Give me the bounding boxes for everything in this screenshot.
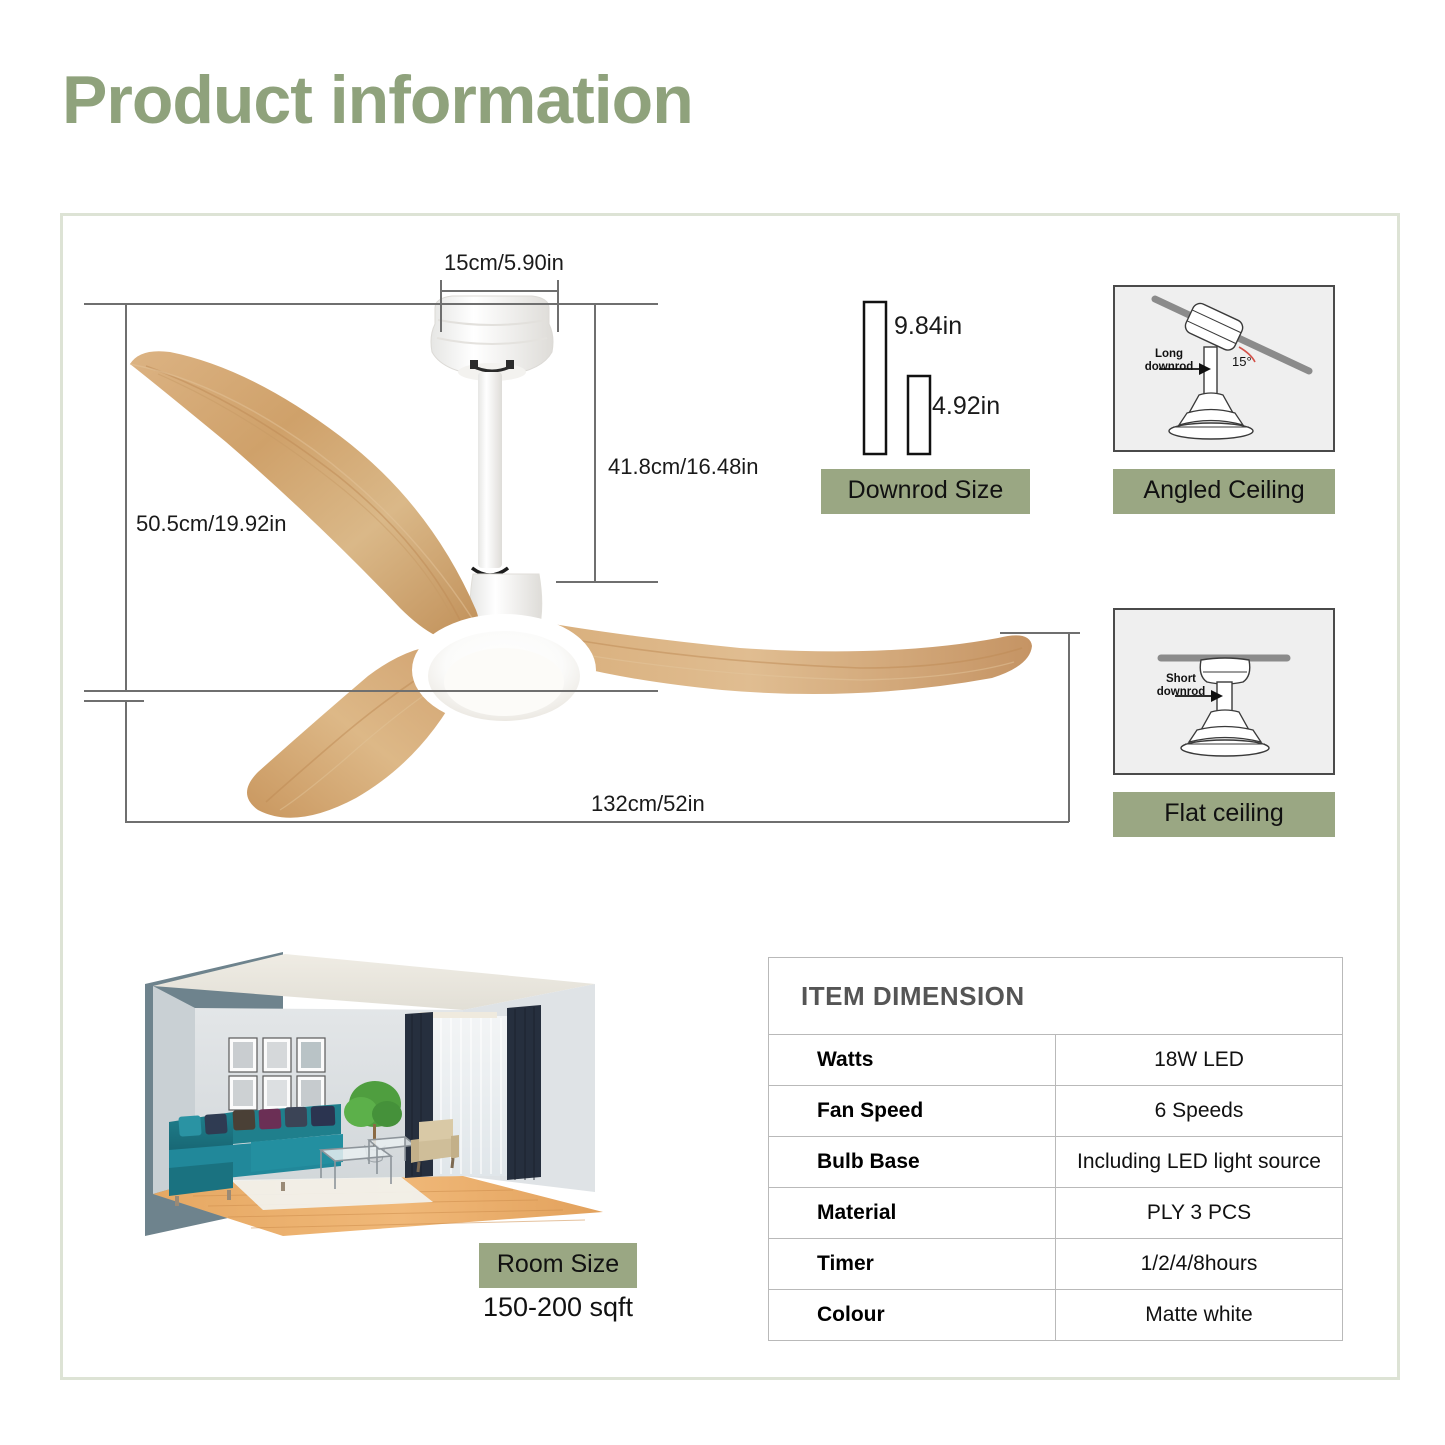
span-tick-right — [1068, 632, 1070, 822]
spec-key-watts: Watts — [769, 1035, 1056, 1086]
blade-span-right-extension — [1000, 632, 1080, 634]
long-downrod-length-label: 9.84in — [894, 312, 962, 341]
spec-key-bulb-base: Bulb Base — [769, 1137, 1056, 1188]
fan-total-height-label: 50.5cm/19.92in — [132, 509, 290, 539]
ceiling-angle-label: 15° — [1232, 355, 1252, 370]
room-size-value: 150-200 sqft — [479, 1292, 637, 1323]
blade-span-dimension-line — [125, 821, 1069, 823]
room-size-badge: Room Size — [479, 1243, 637, 1288]
blade-span-top-extension — [84, 700, 144, 702]
flat-ceiling-callout: Short downrod — [1145, 673, 1217, 699]
spec-key-colour: Colour — [769, 1290, 1056, 1341]
ceiling-reference-line — [84, 303, 658, 305]
item-dimension-title: ITEM DIMENSION — [769, 958, 1343, 1035]
spec-value-timer: 1/2/4/8hours — [1056, 1239, 1343, 1290]
angled-ceiling-badge: Angled Ceiling — [1113, 469, 1335, 514]
width-dimension-line — [440, 290, 558, 292]
flat-ceiling-badge: Flat ceiling — [1113, 792, 1335, 837]
fan-canopy-width-label: 15cm/5.90in — [444, 250, 564, 276]
total-height-dimension-line — [125, 303, 127, 691]
table-header-row: ITEM DIMENSION — [769, 958, 1343, 1035]
spec-value-bulb-base: Including LED light source — [1056, 1137, 1343, 1188]
spec-key-timer: Timer — [769, 1239, 1056, 1290]
spec-key-fan-speed: Fan Speed — [769, 1086, 1056, 1137]
width-tick-left — [440, 280, 442, 332]
flat-callout-line1: Short — [1166, 673, 1196, 685]
item-dimension-table: ITEM DIMENSION Watts 18W LED Fan Speed 6… — [768, 957, 1343, 1341]
table-row: Colour Matte white — [769, 1290, 1343, 1341]
page-title: Product information — [62, 66, 693, 134]
angled-ceiling-callout: Long downrod — [1133, 348, 1205, 374]
downrod-height-dimension-line — [594, 303, 596, 581]
table-row: Fan Speed 6 Speeds — [769, 1086, 1343, 1137]
table-row: Timer 1/2/4/8hours — [769, 1239, 1343, 1290]
fan-downrod-height-label: 41.8cm/16.48in — [604, 452, 762, 482]
table-row: Watts 18W LED — [769, 1035, 1343, 1086]
angled-callout-line1: Long — [1155, 348, 1183, 360]
total-height-bottom-extension — [84, 690, 658, 692]
downrod-height-extension — [556, 581, 658, 583]
table-row: Bulb Base Including LED light source — [769, 1137, 1343, 1188]
short-downrod-length-label: 4.92in — [932, 392, 1000, 421]
spec-value-watts: 18W LED — [1056, 1035, 1343, 1086]
spec-key-material: Material — [769, 1188, 1056, 1239]
span-tick-left — [125, 700, 127, 822]
spec-value-fan-speed: 6 Speeds — [1056, 1086, 1343, 1137]
flat-callout-line2: downrod — [1157, 686, 1206, 698]
blade-span-label: 132cm/52in — [591, 791, 705, 817]
spec-value-material: PLY 3 PCS — [1056, 1188, 1343, 1239]
table-row: Material PLY 3 PCS — [769, 1188, 1343, 1239]
spec-table-body: ITEM DIMENSION Watts 18W LED Fan Speed 6… — [769, 958, 1343, 1341]
spec-value-colour: Matte white — [1056, 1290, 1343, 1341]
downrod-size-badge: Downrod Size — [821, 469, 1030, 514]
width-tick-right — [557, 280, 559, 332]
room-size-illustration — [133, 944, 611, 1242]
angled-callout-line2: downrod — [1145, 361, 1194, 373]
